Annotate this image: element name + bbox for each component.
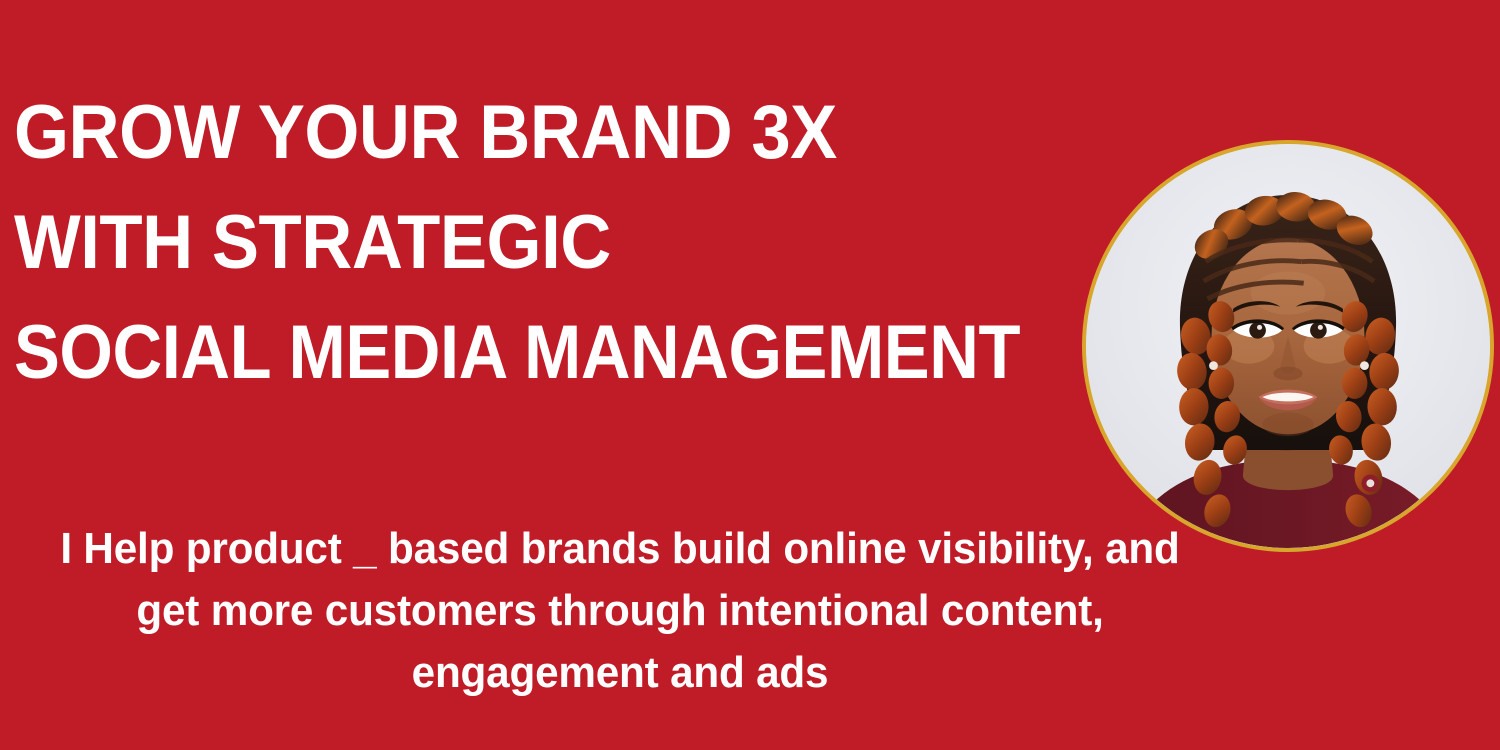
headline-block: GROW YOUR BRAND 3X WITH STRATEGIC SOCIAL…	[14, 78, 1134, 408]
portrait-circle	[1082, 140, 1494, 552]
headline-line-3: SOCIAL MEDIA MANAGEMENT	[14, 298, 1028, 408]
body-line-2: get more customers through intentional c…	[25, 580, 1215, 642]
body-paragraph: I Help product _ based brands build onli…	[0, 518, 1240, 704]
portrait-gold-ring	[1082, 140, 1494, 552]
portrait-photo	[1086, 144, 1490, 548]
body-line-1: I Help product _ based brands build onli…	[25, 518, 1215, 580]
headline-line-2: WITH STRATEGIC	[14, 188, 1056, 298]
headline-line-1: GROW YOUR BRAND 3X	[14, 78, 1056, 188]
promo-banner: GROW YOUR BRAND 3X WITH STRATEGIC SOCIAL…	[0, 0, 1500, 750]
body-line-3: engagement and ads	[25, 642, 1215, 704]
